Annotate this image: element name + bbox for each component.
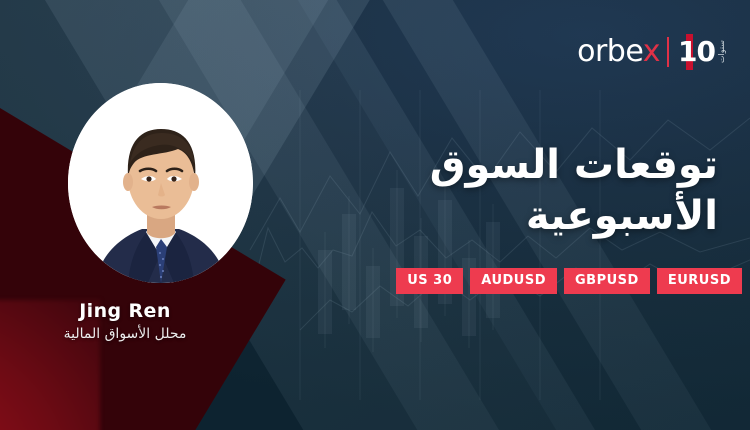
avatar <box>68 83 253 283</box>
page-title-line1: توقعات السوق <box>430 142 718 188</box>
presenter-info: Jing Ren محلل الأسواق المالية <box>0 300 250 342</box>
marketing-banner: Jing Ren محلل الأسواق المالية توقعات الس… <box>0 0 750 430</box>
logo-wordmark: orbex <box>577 37 660 67</box>
presenter-role: محلل الأسواق المالية <box>0 326 250 342</box>
anniversary-label: سنوات <box>718 40 726 63</box>
page-title-line2: الأسبوعية <box>298 191 718 242</box>
anniversary-number: 10 <box>678 38 715 66</box>
status-badge[interactable]: GBPUSD <box>564 268 650 294</box>
status-badge[interactable]: EURUSD <box>657 268 742 294</box>
status-badge[interactable]: AUDUSD <box>470 268 557 294</box>
page-title: توقعات السوق الأسبوعية <box>298 140 718 242</box>
logo-wordmark-text: orbe <box>577 34 643 69</box>
instrument-badge-list: EURUSD GBPUSD AUDUSD US 30 <box>396 268 742 294</box>
logo-divider <box>667 37 669 67</box>
presenter-name: Jing Ren <box>0 300 250 322</box>
logo-x-icon: x <box>643 34 660 69</box>
orbex-logo[interactable]: orbex 10 سنوات <box>577 33 726 71</box>
status-badge[interactable]: US 30 <box>396 268 463 294</box>
anniversary-number-text: 10 <box>678 35 715 68</box>
